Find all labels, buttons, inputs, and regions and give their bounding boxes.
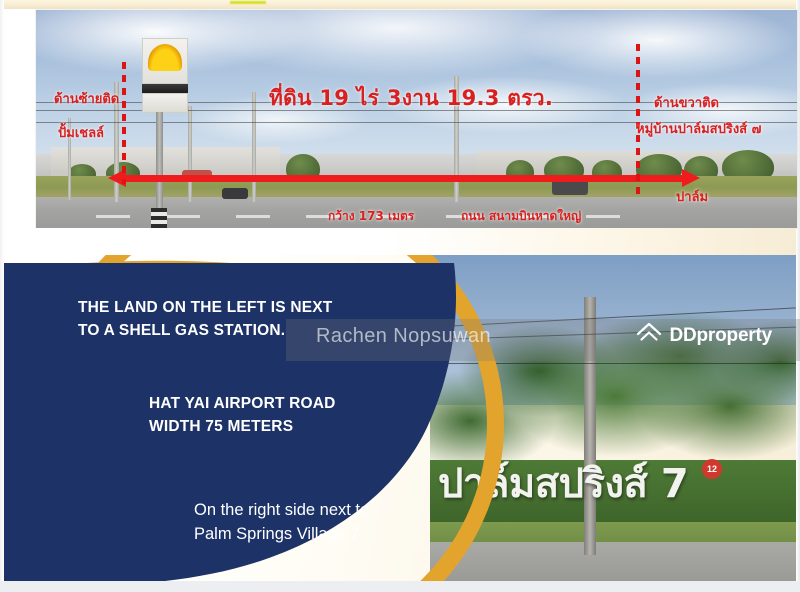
top-gradient-strip: [0, 0, 800, 9]
road-heading-line-2: WIDTH 75 METERS: [149, 418, 293, 436]
left-heading-line-2: TO A SHELL GAS STATION.: [78, 322, 285, 340]
width-measure-arrow: [124, 175, 684, 182]
boundary-dashed-line-left: [122, 62, 126, 184]
vehicle: [222, 188, 248, 199]
left-heading-line-1: THE LAND ON THE LEFT IS NEXT: [78, 299, 332, 317]
house-chevron-icon: [636, 321, 662, 350]
caption-left-side-1: ด้านซ้ายติด: [54, 88, 119, 109]
utility-pole: [584, 297, 596, 555]
caption-right-side-1: ด้านขวาติด: [654, 92, 719, 113]
bottom-composite: ปาล์มสปริงส์ 7 12 THE LAND ON THE LEFT I…: [4, 255, 796, 581]
right-note-line-2: Palm Springs Village 7: [194, 525, 360, 544]
description-text-block: THE LAND ON THE LEFT IS NEXT TO A SHELL …: [4, 255, 474, 581]
caption-left-side-2: ปั้มเชลล์: [58, 122, 104, 143]
caption-frontage-width: กว้าง 173 เมตร: [328, 207, 414, 226]
vehicle: [552, 180, 588, 195]
caption-land-area: ที่ดิน 19 ไร่ 3งาน 19.3 ตรว.: [269, 82, 553, 115]
caption-palm: ปาล์ม: [676, 186, 708, 207]
route-badge: 12: [702, 459, 722, 479]
caption-right-side-2: หมู่บ้านปาล์มสปริงส์ ๗: [636, 118, 761, 139]
top-panoramic-photo[interactable]: ด้านซ้ายติด ปั้มเชลล์ ที่ดิน 19 ไร่ 3งาน…: [36, 10, 797, 228]
caption-road-name: ถนน สนามบินหาดใหญ่: [461, 207, 581, 226]
listing-image-card: ด้านซ้ายติด ปั้มเชลล์ ที่ดิน 19 ไร่ 3งาน…: [0, 0, 800, 592]
road-heading-line-1: HAT YAI AIRPORT ROAD: [149, 395, 336, 413]
utility-pole: [188, 106, 192, 202]
ddproperty-logo[interactable]: DDproperty: [636, 321, 772, 350]
ddproperty-logo-label: DDproperty: [669, 325, 772, 347]
bottom-light-strip: [0, 581, 800, 592]
top-accent-highlight: [230, 1, 266, 4]
agent-watermark: Rachen Nopsuwan: [316, 325, 491, 348]
arrow-head-right: [682, 169, 700, 187]
utility-pole: [252, 92, 256, 202]
shell-pylon-sign: [136, 38, 188, 208]
street: [430, 542, 796, 581]
right-note-line-1: On the right side next to: [194, 501, 369, 520]
